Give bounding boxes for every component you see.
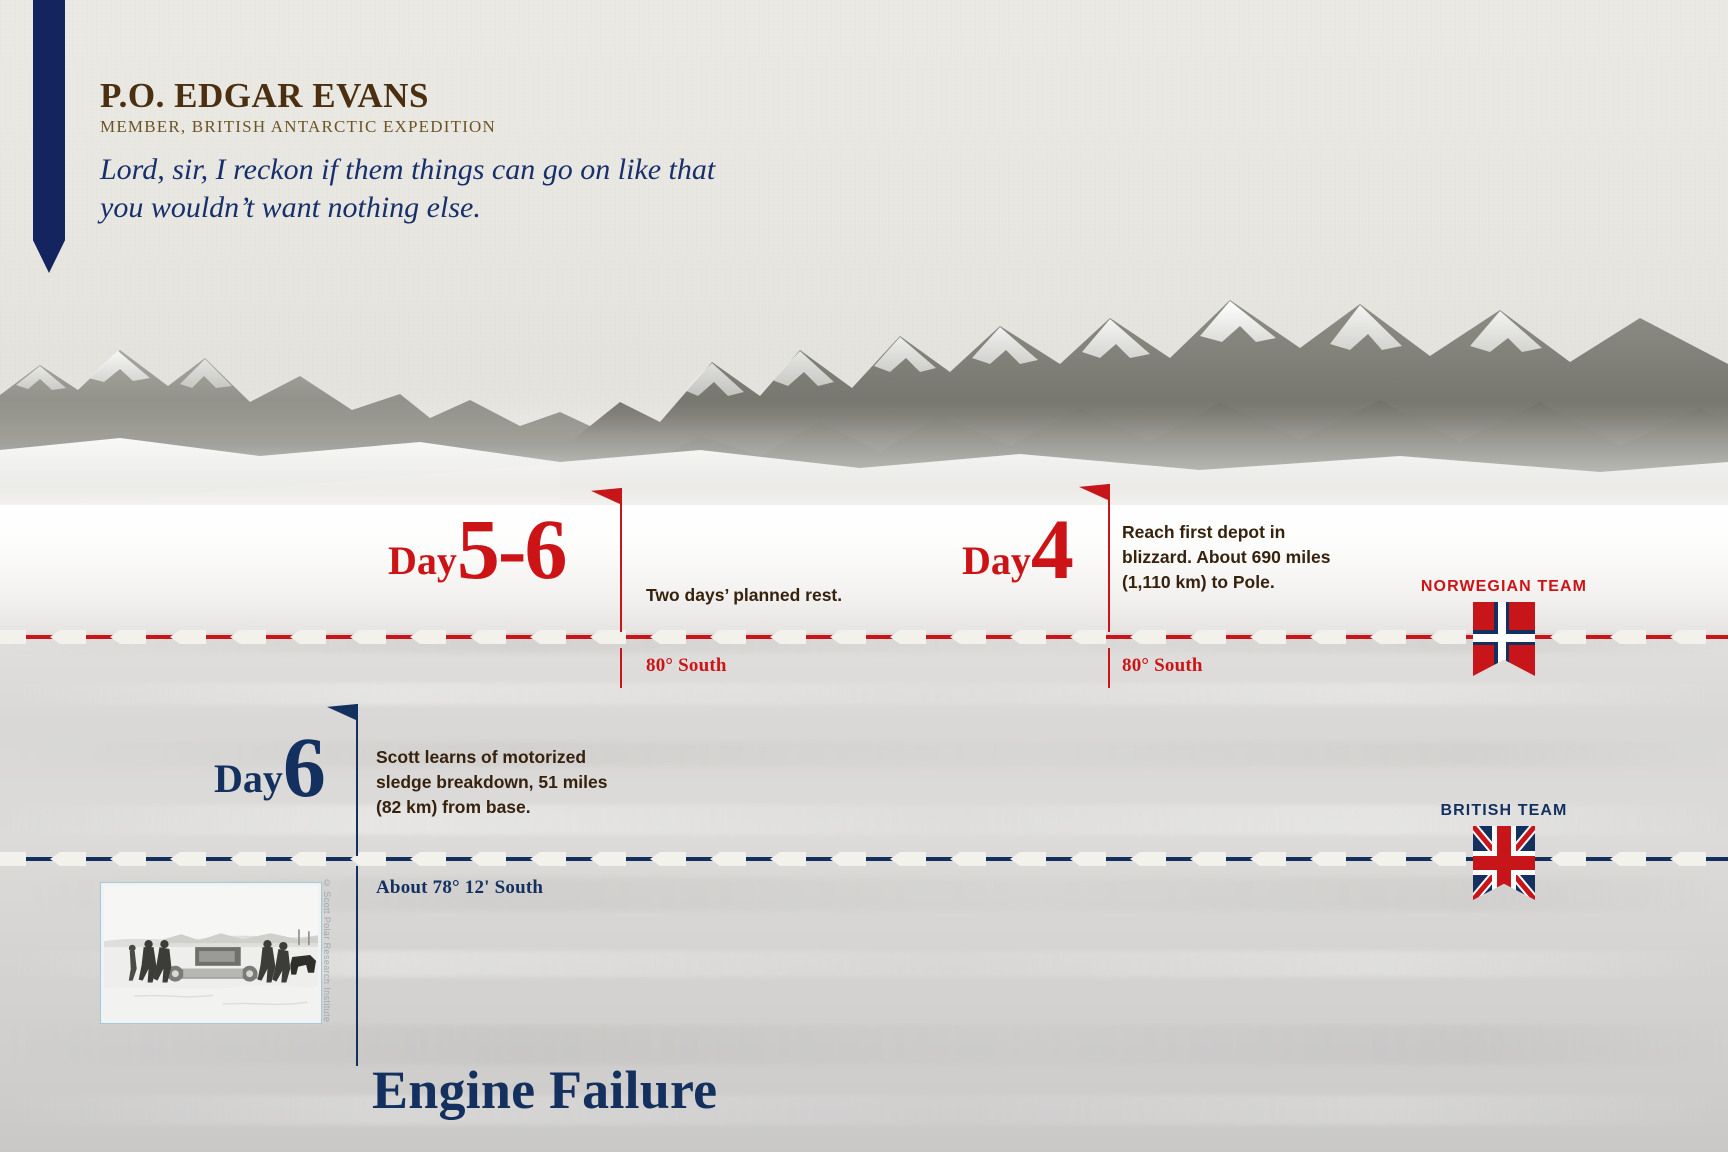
british-team-marker: BRITISH TEAM xyxy=(1404,802,1604,900)
coord-stem-day-4 xyxy=(1108,648,1110,688)
british-team-label: BRITISH TEAM xyxy=(1404,802,1604,820)
coord-stem-day-6 xyxy=(356,866,358,1066)
quote-header: P.O. EDGAR EVANS MEMBER, BRITISH ANTARCT… xyxy=(100,78,920,227)
norwegian-team-marker: NORWEGIAN TEAM xyxy=(1404,578,1604,676)
marker-stem-day-4 xyxy=(1108,484,1110,632)
member-subtitle: MEMBER, BRITISH ANTARCTIC EXPEDITION xyxy=(100,117,920,137)
day-label-4: Day 4 xyxy=(962,512,1072,588)
bookmark-ribbon xyxy=(33,0,65,273)
event-description-day-6: Scott learns of motorized sledge breakdo… xyxy=(376,745,656,820)
day-label-6: Day 6 xyxy=(214,730,324,806)
infographic-canvas: P.O. EDGAR EVANS MEMBER, BRITISH ANTARCT… xyxy=(0,0,1728,1152)
marker-stem-day-6 xyxy=(356,704,358,856)
page-title: P.O. EDGAR EVANS xyxy=(100,78,920,113)
day-word: Day xyxy=(214,759,283,806)
norway-flag-icon xyxy=(1473,602,1535,676)
archival-photo-frame xyxy=(100,882,322,1024)
coordinate-label-day-5-6: 80° South xyxy=(646,655,727,677)
day-word: Day xyxy=(962,541,1031,588)
day-word: Day xyxy=(388,541,457,588)
coordinate-label-day-6: About 78° 12' South xyxy=(376,877,543,899)
coordinate-label-day-4: 80° South xyxy=(1122,655,1203,677)
norwegian-team-label: NORWEGIAN TEAM xyxy=(1404,578,1604,596)
event-description-day-5-6: Two days’ planned rest. xyxy=(646,583,906,608)
coord-stem-day-5-6 xyxy=(620,648,622,688)
section-title: Engine Failure xyxy=(372,1063,717,1117)
photo-credit: © Scott Polar Research Institute xyxy=(322,878,332,1022)
day-number: 6 xyxy=(283,730,324,806)
day-label-5-6: Day 5-6 xyxy=(388,512,566,588)
archival-photo xyxy=(104,886,318,1020)
day-number: 5-6 xyxy=(457,512,566,588)
union-jack-flag-icon xyxy=(1473,826,1535,900)
pull-quote: Lord, sir, I reckon if them things can g… xyxy=(100,151,760,227)
event-description-day-4: Reach first depot in blizzard. About 690… xyxy=(1122,520,1392,595)
marker-stem-day-5-6 xyxy=(620,488,622,632)
day-number: 4 xyxy=(1031,512,1072,588)
